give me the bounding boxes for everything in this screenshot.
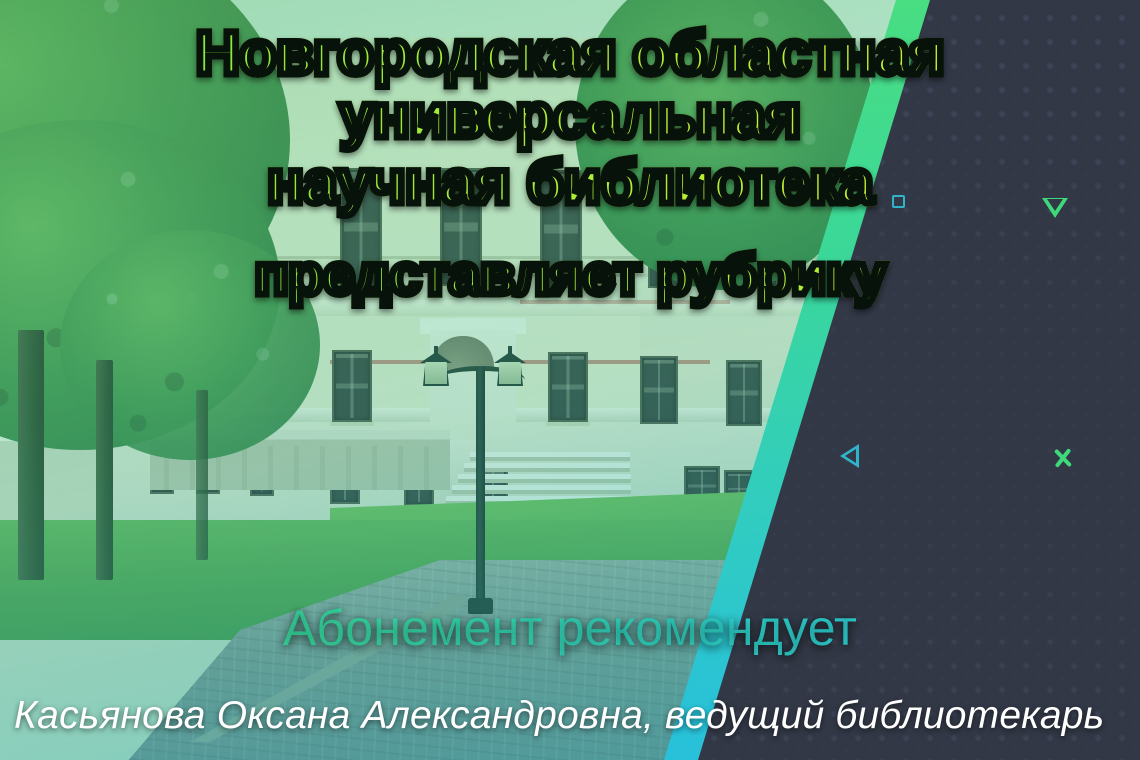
triangle-left-outline-icon — [840, 444, 859, 468]
subtitle-text: представляет рубрику — [0, 246, 1140, 306]
cross-mark-icon — [1052, 447, 1074, 469]
title-line-2: научная библиотека — [0, 151, 1140, 214]
page-title: Новгородская областная универсальная нау… — [0, 22, 1140, 214]
byline-text: Касьянова Оксана Александровна, ведущий … — [14, 694, 1140, 738]
title-line-1: Новгородская областная универсальная — [0, 22, 1140, 149]
title-card-slide: Новгородская областная универсальная нау… — [0, 0, 1140, 760]
tagline-text: Абонемент рекомендует — [0, 601, 1140, 656]
